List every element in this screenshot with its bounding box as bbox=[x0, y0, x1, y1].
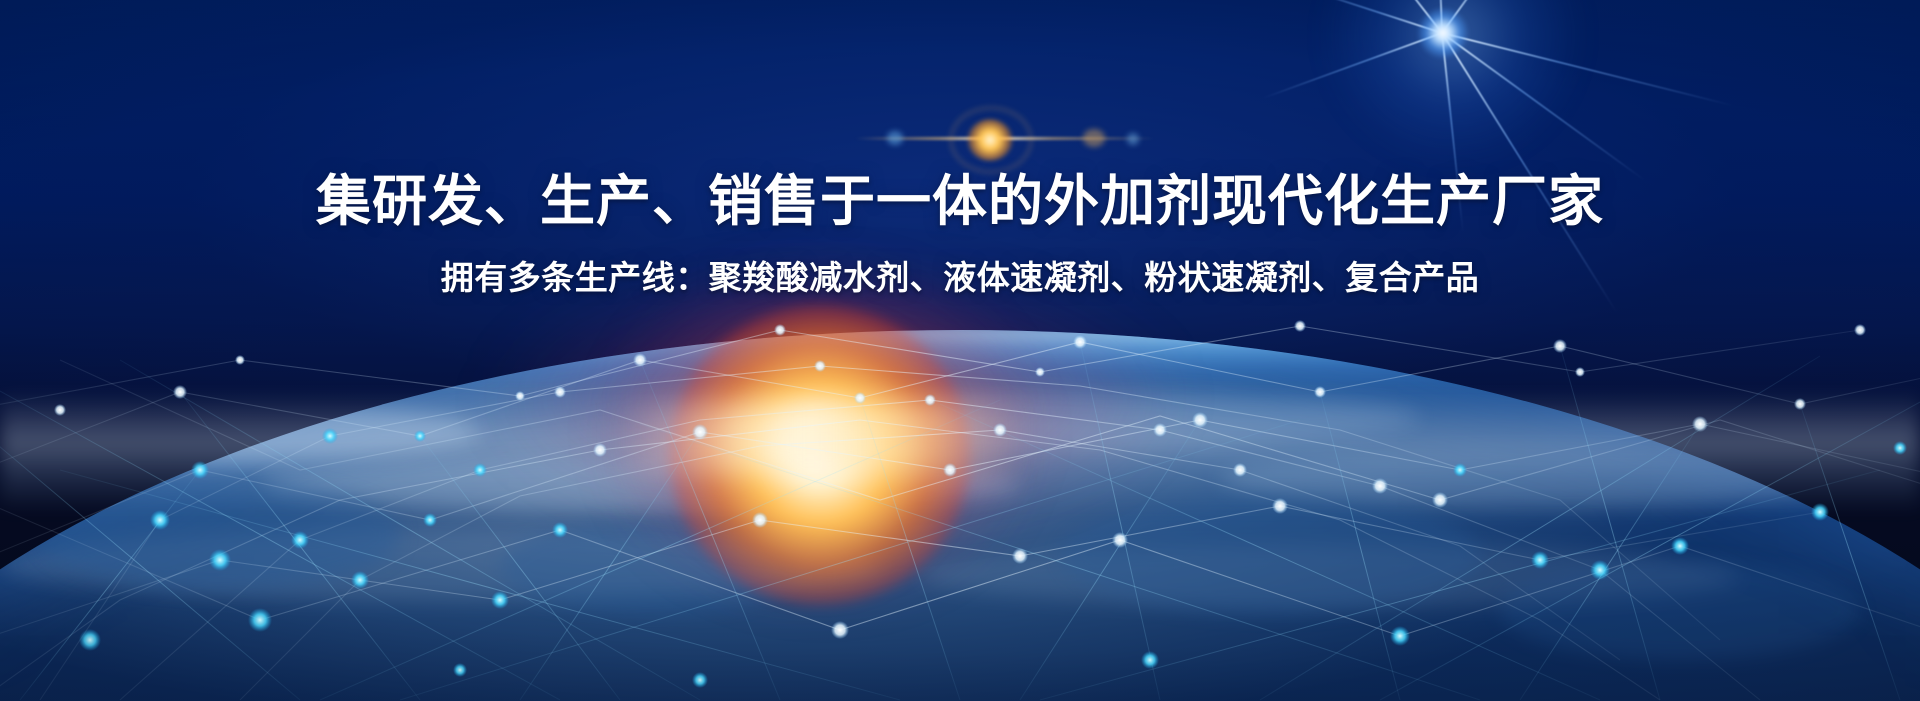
banner-headline: 集研发、生产、销售于一体的外加剂现代化生产厂家 bbox=[316, 170, 1604, 233]
globe-atmosphere-limb bbox=[0, 330, 1920, 386]
banner-subline: 拥有多条生产线：聚羧酸减水剂、液体速凝剂、粉状速凝剂、复合产品 bbox=[441, 251, 1480, 299]
lens-flare-icon bbox=[855, 105, 1155, 175]
star-flare-icon bbox=[1300, 0, 1720, 230]
globe-graphic bbox=[0, 330, 1920, 701]
hero-banner: 集研发、生产、销售于一体的外加剂现代化生产厂家 拥有多条生产线：聚羧酸减水剂、液… bbox=[0, 0, 1920, 701]
